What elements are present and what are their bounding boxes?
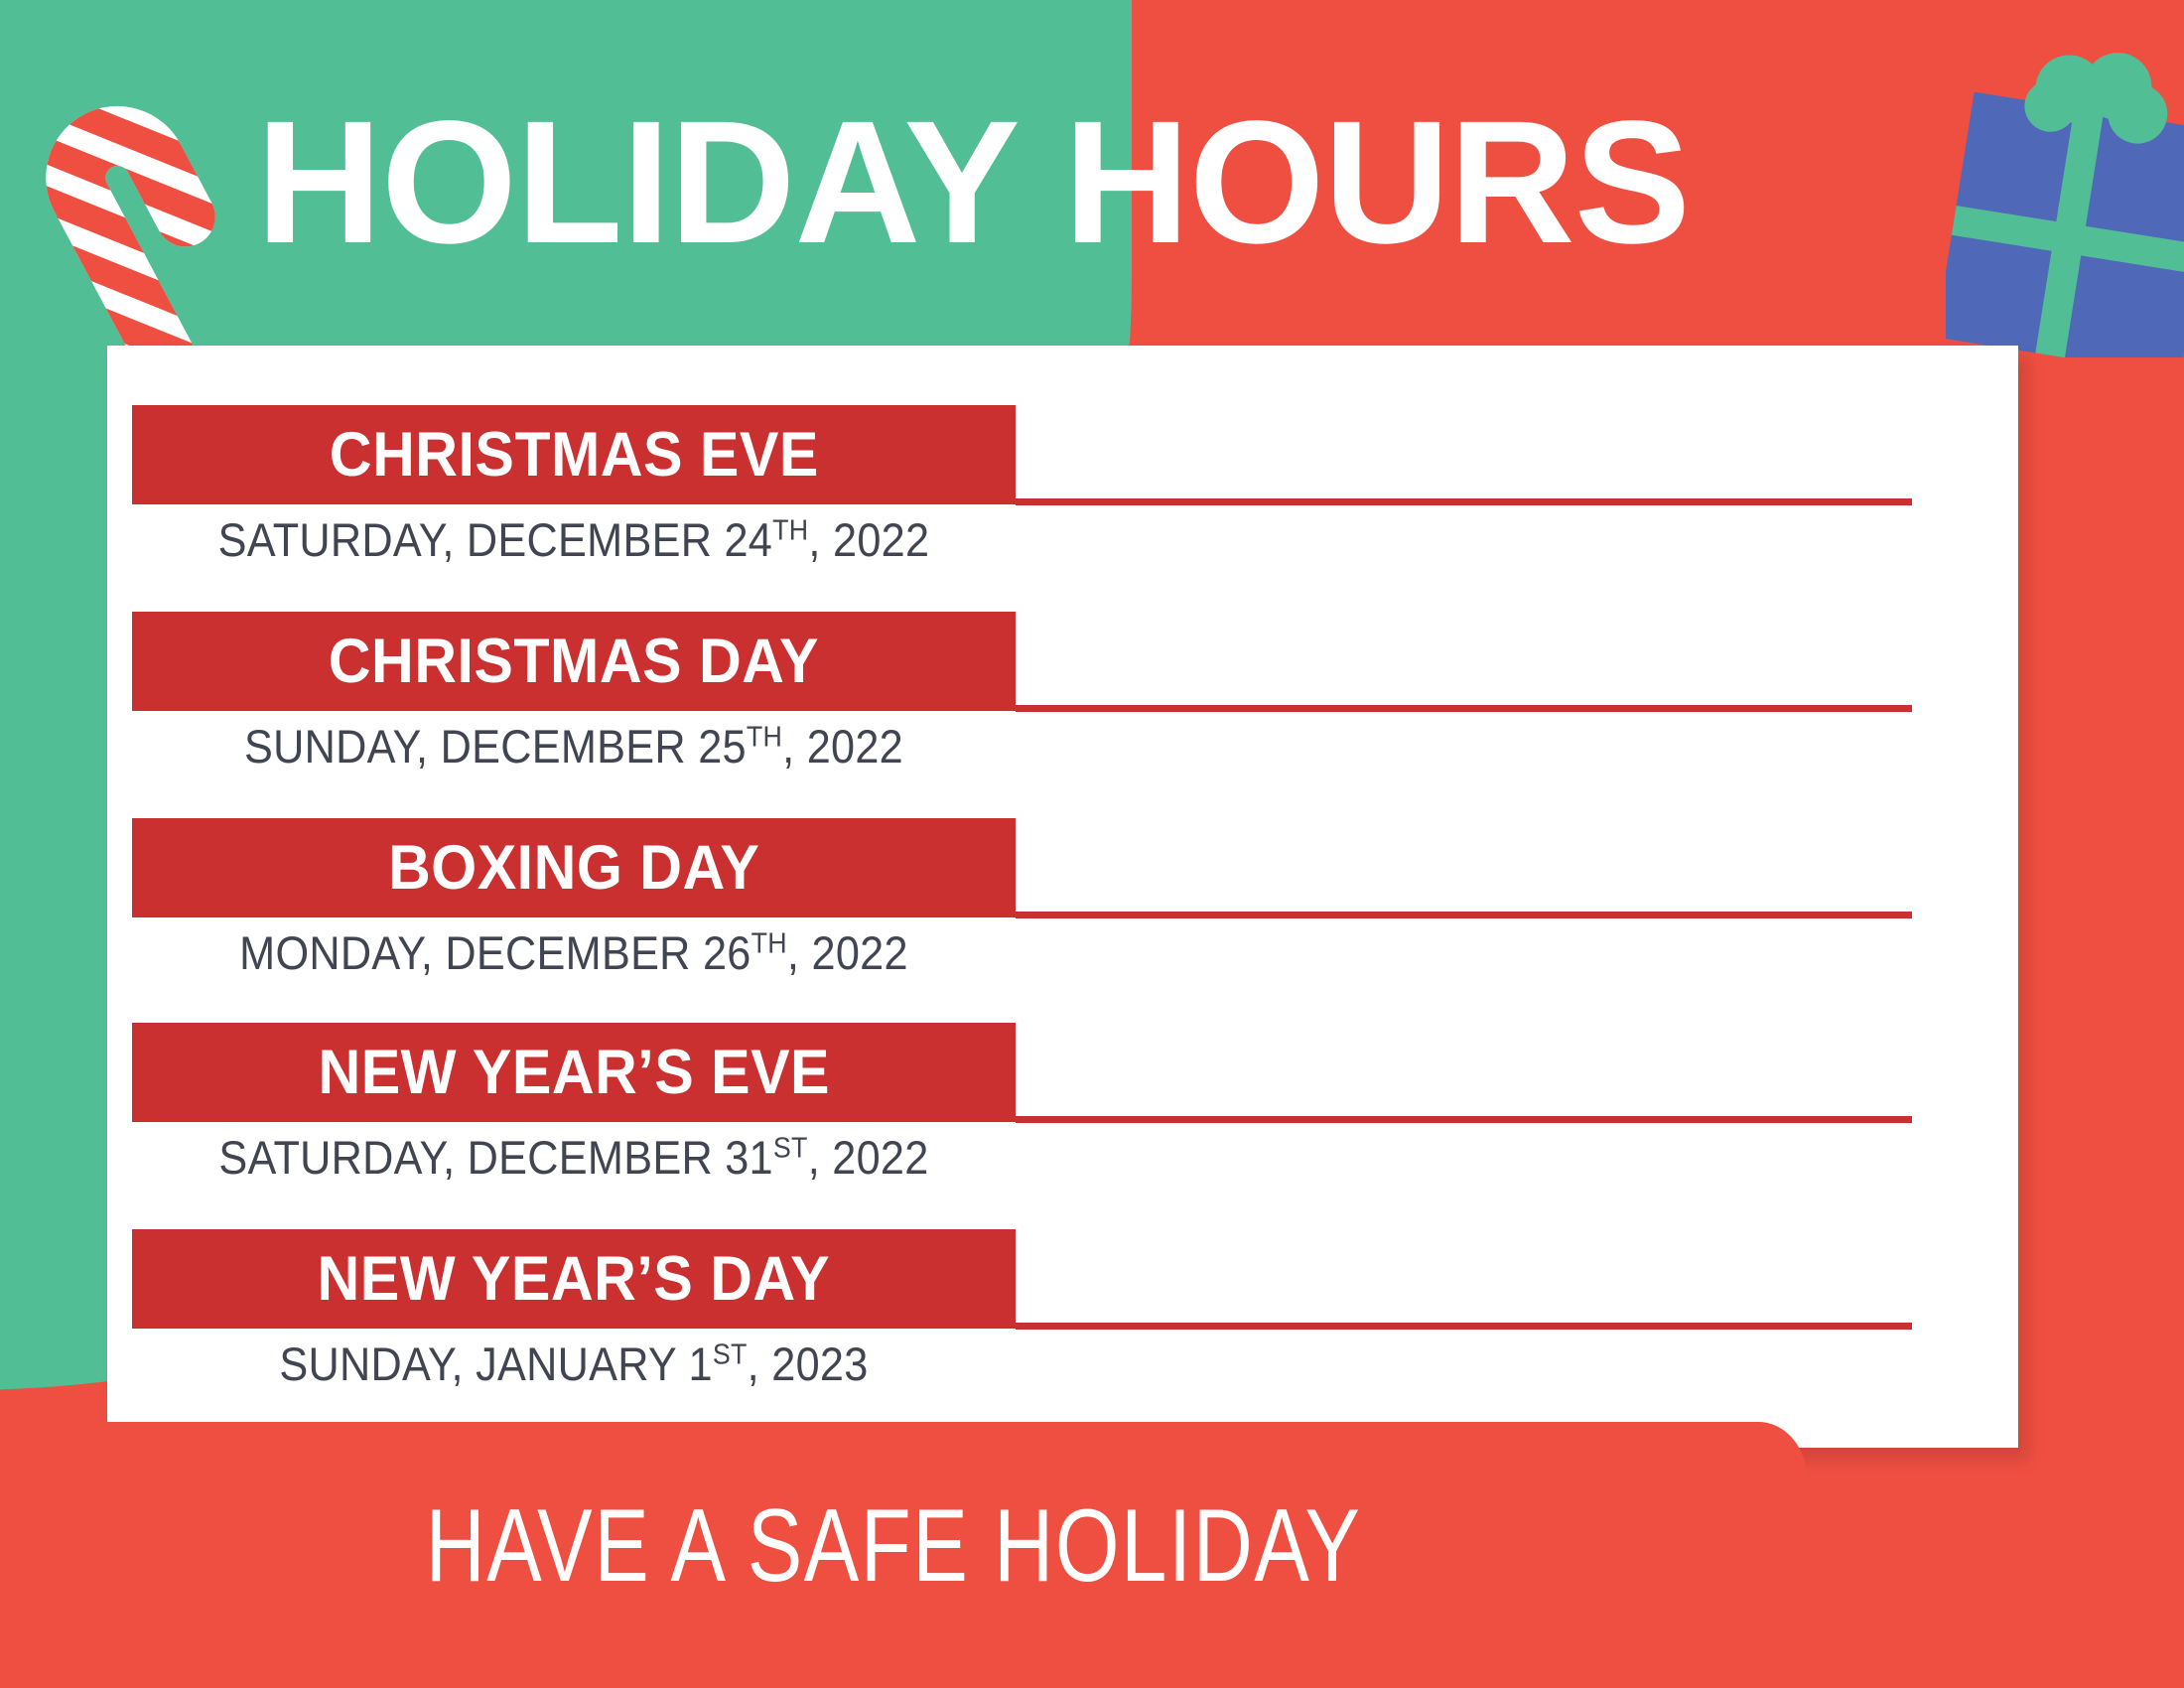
holiday-hours-poster: HOLIDAY HOURS CHRISTMAS EVE SATURDAY, DE… [0, 0, 2184, 1688]
holiday-date-prefix: SUNDAY, JANUARY 1 [279, 1337, 712, 1390]
holiday-name-band: CHRISTMAS DAY [132, 612, 1016, 711]
holiday-date: MONDAY, DECEMBER 26TH, 2022 [168, 921, 981, 984]
schedule-row: CHRISTMAS EVE SATURDAY, DECEMBER 24TH, 2… [107, 405, 2018, 612]
schedule-row: BOXING DAY MONDAY, DECEMBER 26TH, 2022 [107, 818, 2018, 1025]
holiday-name-band: BOXING DAY [132, 818, 1016, 917]
holiday-date-prefix: MONDAY, DECEMBER 26 [239, 926, 751, 979]
holiday-date-prefix: SATURDAY, DECEMBER 31 [218, 1131, 772, 1184]
holiday-name-label: CHRISTMAS DAY [329, 631, 819, 693]
holiday-date-ordinal: ST [773, 1132, 808, 1164]
holiday-date-ordinal: TH [772, 514, 808, 546]
holiday-name-label: CHRISTMAS EVE [329, 424, 818, 487]
holiday-date-ordinal: TH [747, 721, 782, 753]
holiday-date: SATURDAY, DECEMBER 24TH, 2022 [168, 508, 981, 571]
holiday-date-ordinal: TH [751, 927, 787, 959]
schedule-row: CHRISTMAS DAY SUNDAY, DECEMBER 25TH, 202… [107, 612, 2018, 818]
holiday-date-suffix: , 2022 [782, 720, 903, 773]
holiday-name-band: NEW YEAR’S EVE [132, 1023, 1016, 1122]
holiday-date-suffix: , 2022 [808, 1131, 929, 1184]
holiday-date-ordinal: ST [713, 1338, 748, 1370]
holiday-date-prefix: SUNDAY, DECEMBER 25 [244, 720, 747, 773]
row-divider-line [1016, 498, 1912, 505]
schedule-rows: CHRISTMAS EVE SATURDAY, DECEMBER 24TH, 2… [107, 346, 2018, 1448]
schedule-row: NEW YEAR’S DAY SUNDAY, JANUARY 1ST, 2023 [107, 1229, 2018, 1436]
holiday-date: SATURDAY, DECEMBER 31ST, 2022 [168, 1126, 981, 1189]
schedule-card: CHRISTMAS EVE SATURDAY, DECEMBER 24TH, 2… [107, 346, 2018, 1448]
holiday-name-label: NEW YEAR’S EVE [318, 1042, 830, 1104]
holiday-date-suffix: , 2023 [748, 1337, 869, 1390]
holiday-name-band: NEW YEAR’S DAY [132, 1229, 1016, 1329]
holiday-name-label: NEW YEAR’S DAY [318, 1248, 831, 1311]
row-divider-line [1016, 1323, 1912, 1330]
holiday-date-prefix: SATURDAY, DECEMBER 24 [218, 513, 772, 566]
row-divider-line [1016, 1116, 1912, 1123]
footer-message: HAVE A SAFE HOLIDAY [179, 1494, 1608, 1598]
holiday-date-suffix: , 2022 [808, 513, 929, 566]
page-title: HOLIDAY HOURS [0, 95, 1946, 270]
holiday-date: SUNDAY, JANUARY 1ST, 2023 [168, 1333, 981, 1395]
holiday-date-suffix: , 2022 [787, 926, 908, 979]
holiday-name-band: CHRISTMAS EVE [132, 405, 1016, 504]
holiday-date: SUNDAY, DECEMBER 25TH, 2022 [168, 715, 981, 777]
row-divider-line [1016, 912, 1912, 918]
schedule-row: NEW YEAR’S EVE SATURDAY, DECEMBER 31ST, … [107, 1023, 2018, 1229]
gift-box-icon [1946, 30, 2184, 357]
row-divider-line [1016, 705, 1912, 712]
holiday-name-label: BOXING DAY [388, 837, 759, 900]
